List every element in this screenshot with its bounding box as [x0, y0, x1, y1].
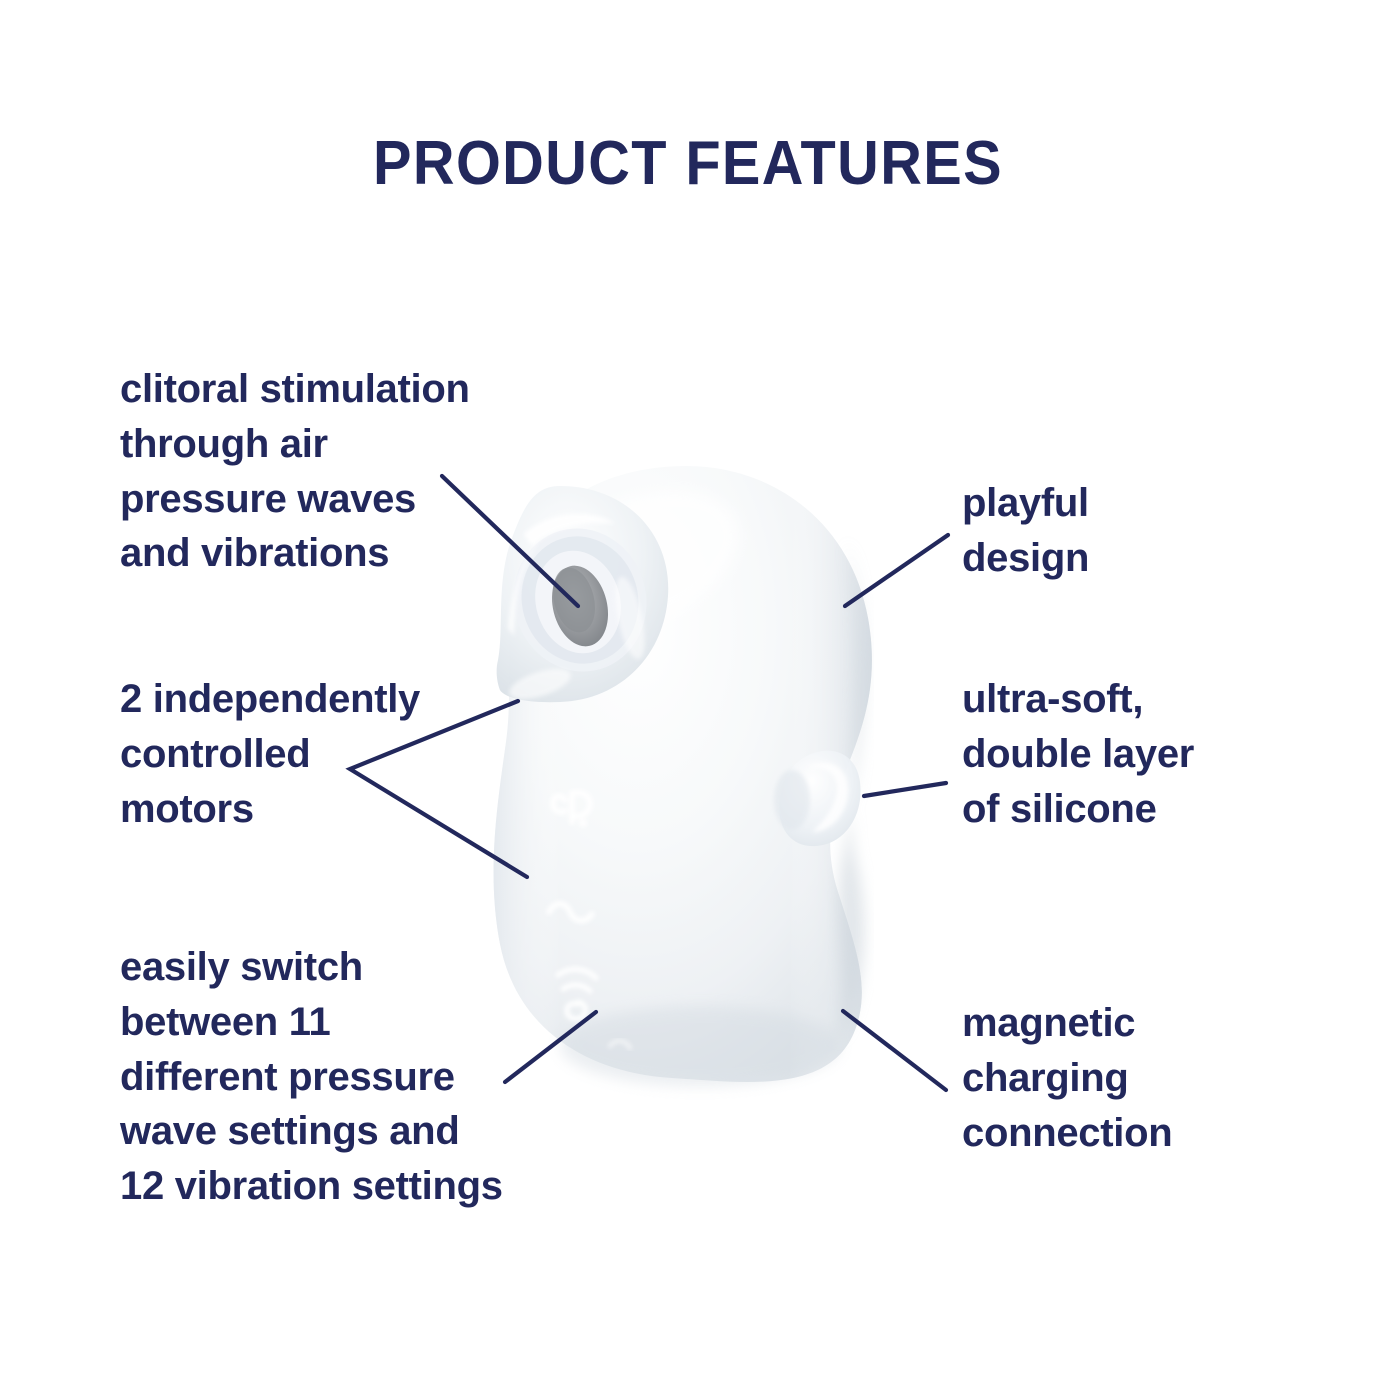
leader-line-magnetic: [843, 1011, 946, 1090]
leader-line-motors: [350, 701, 527, 877]
leader-line-playful: [845, 535, 948, 606]
product-features-infographic: PRODUCT FEATURES: [0, 0, 1376, 1376]
leader-line-settings: [505, 1012, 596, 1082]
leader-line-silicone: [864, 783, 946, 796]
leader-lines: [0, 0, 1376, 1376]
leader-line-air-pressure: [442, 476, 578, 606]
